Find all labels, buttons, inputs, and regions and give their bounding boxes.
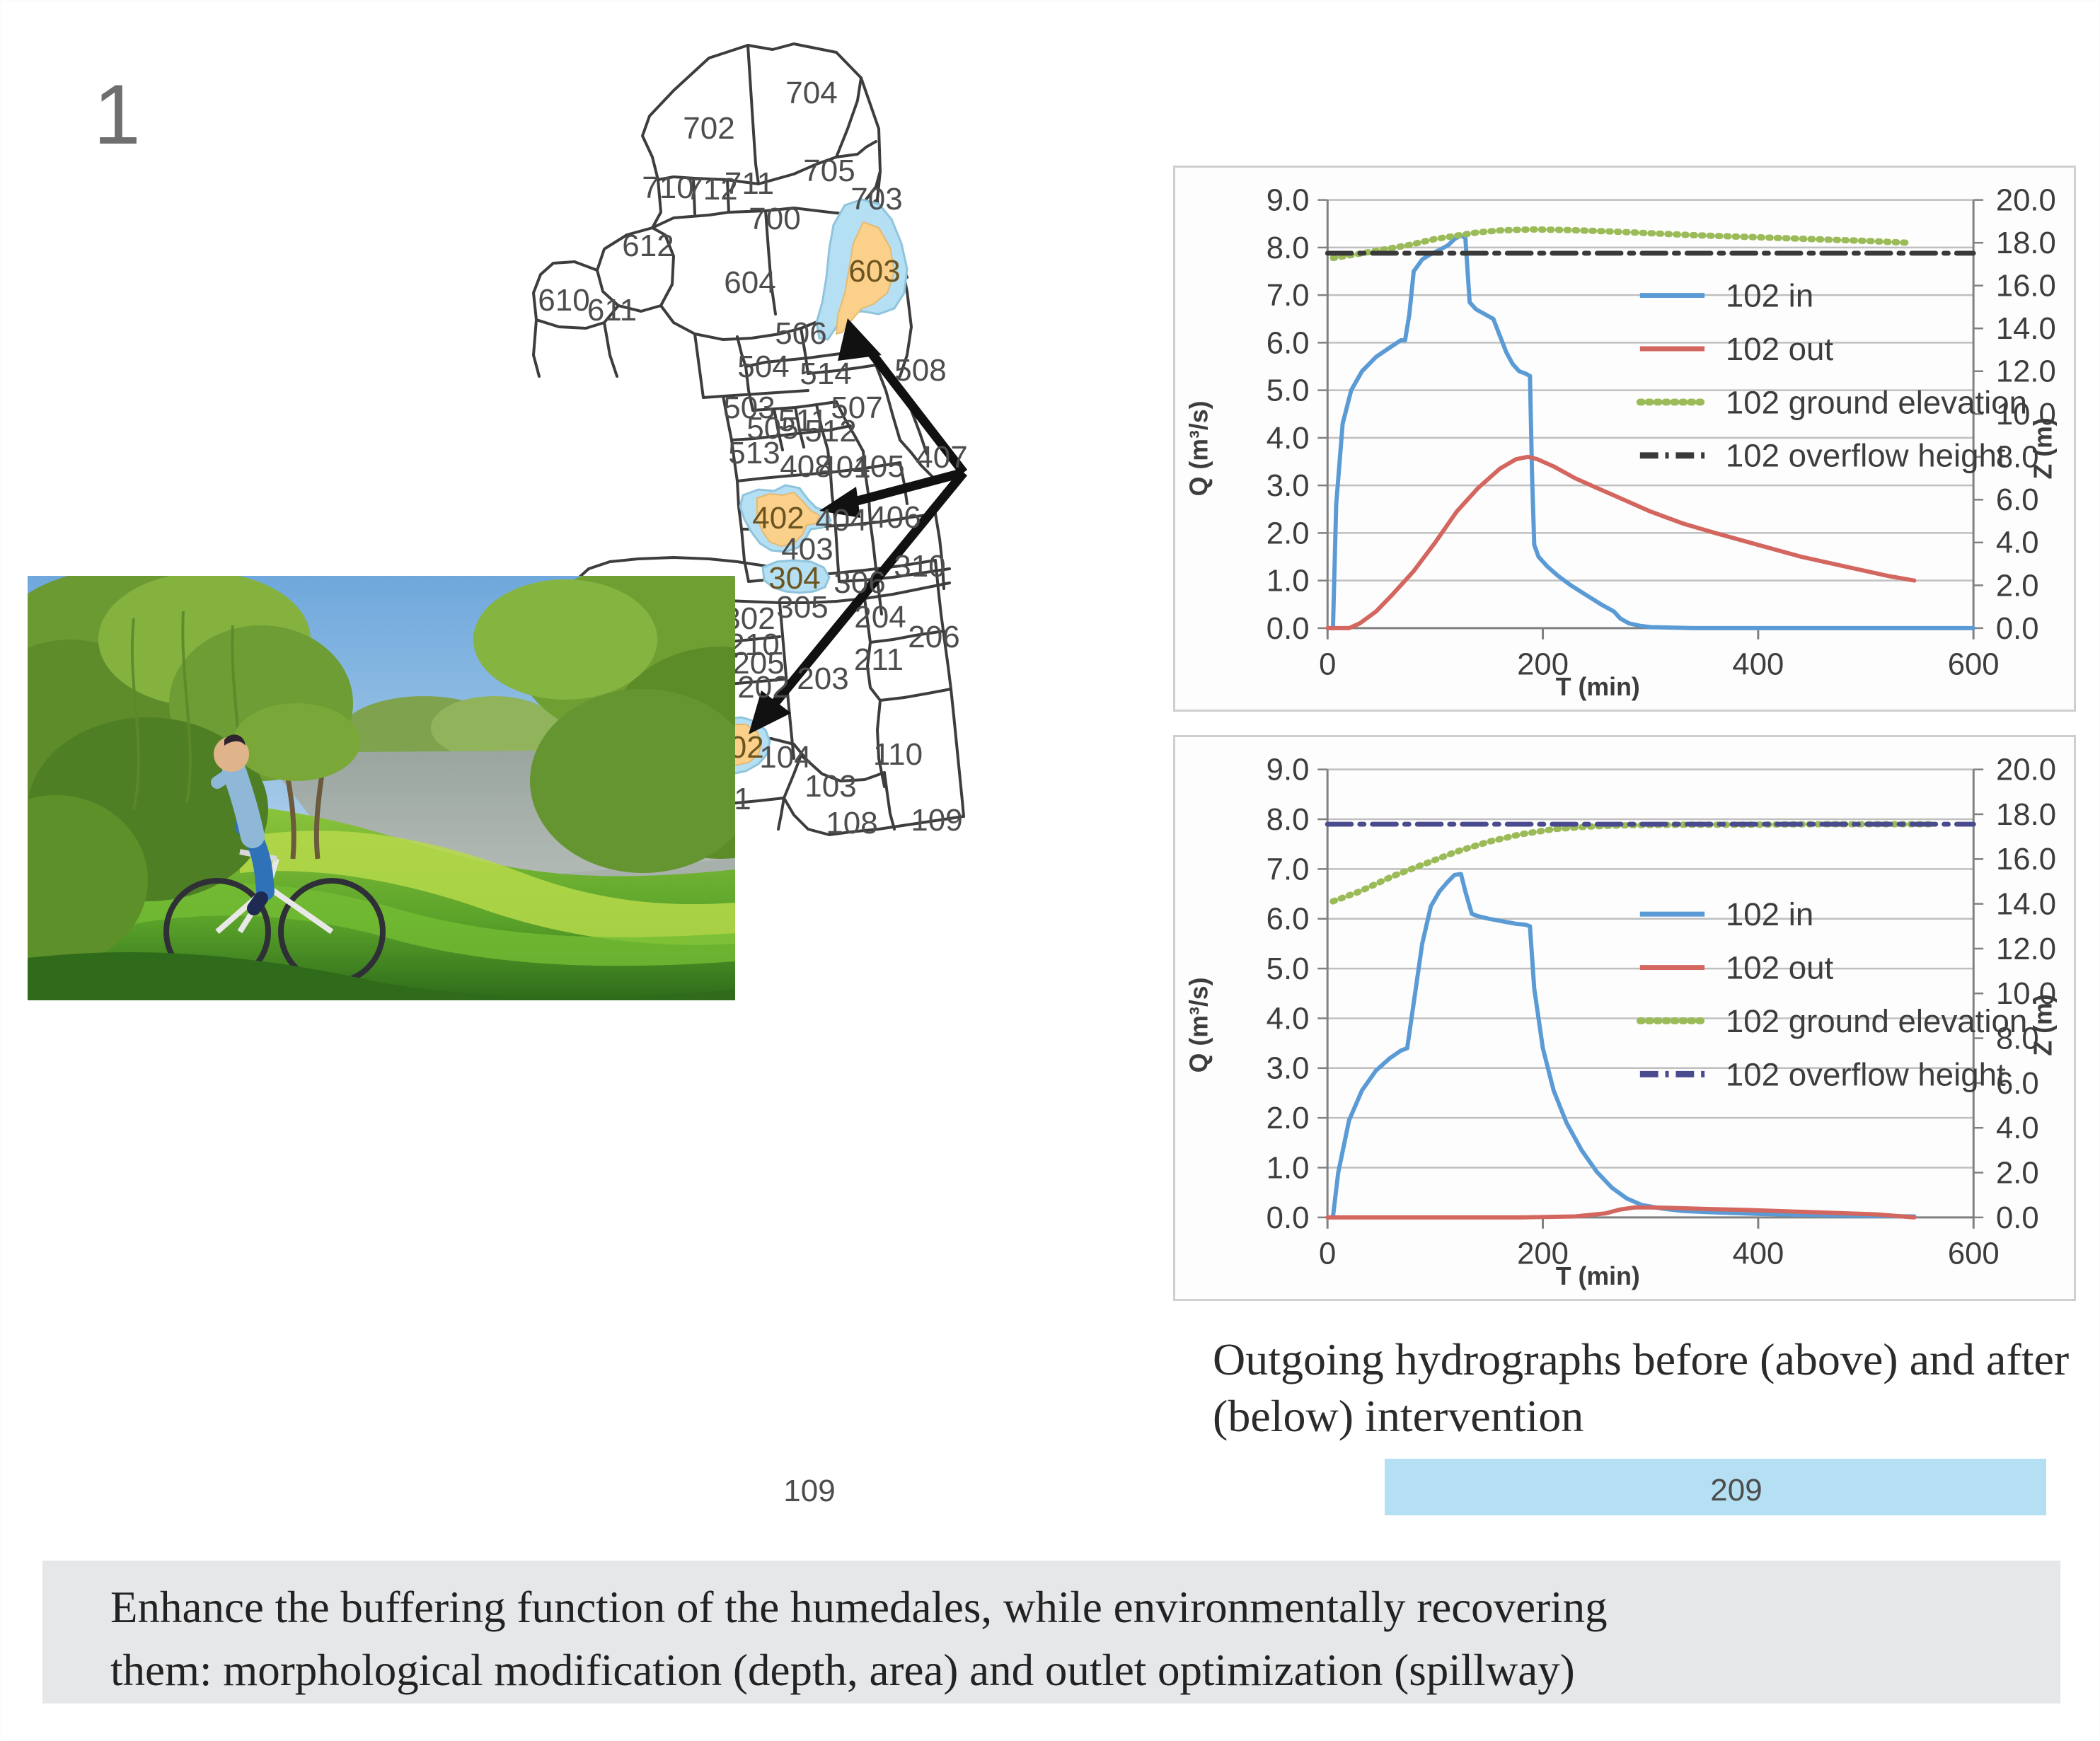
chart-2-y-axis-label: Q (m³/s) xyxy=(1184,977,1213,1072)
map-subcatchment-label-103: 103 xyxy=(804,769,856,804)
map-subcatchment-label-611: 611 xyxy=(587,293,637,328)
c2-y2tick: 0.0 xyxy=(1996,1201,2039,1235)
chart-2-x-axis-label: T (min) xyxy=(1556,1262,1640,1290)
c2-ytick: 6.0 xyxy=(1267,902,1310,937)
map-subcatchment-label-305: 305 xyxy=(776,590,828,625)
chart-before-intervention: 0.01.02.03.04.05.06.07.08.09.00.02.04.06… xyxy=(1173,166,2076,712)
map-subcatchment-label-612: 612 xyxy=(622,229,674,264)
caption-line-1: Enhance the buffering function of the hu… xyxy=(110,1576,2021,1639)
map-subcatchment-label-703: 703 xyxy=(850,182,902,217)
map-subcatchment-label-513: 513 xyxy=(728,436,780,471)
map-subcatchment-label-705: 705 xyxy=(803,154,855,189)
slide-number: 1 xyxy=(93,72,141,157)
map-subcatchment-label-610: 610 xyxy=(538,283,589,318)
map-subcatchment-label-310: 310 xyxy=(894,549,945,584)
map-subcatchment-label-203: 203 xyxy=(797,661,848,697)
chart-1-x-axis-label: T (min) xyxy=(1556,673,1640,701)
map-subcatchment-label-514: 514 xyxy=(800,357,851,392)
c2-y2tick: 4.0 xyxy=(1996,1111,2039,1145)
c2-legend-label: 102 overflow height xyxy=(1726,1056,2006,1092)
c1-ytick: 8.0 xyxy=(1267,231,1310,265)
c1-y2tick: 2.0 xyxy=(1996,568,2039,603)
slide-root: 1 xyxy=(0,0,2100,1741)
c2-y2tick: 12.0 xyxy=(1996,932,2056,966)
c1-y2tick: 20.0 xyxy=(1996,183,2056,218)
map-subcatchment-label-109: 109 xyxy=(911,803,962,838)
c1-xtick: 600 xyxy=(1948,647,2000,681)
c2-xtick: 0 xyxy=(1319,1236,1336,1271)
c1-y2tick: 16.0 xyxy=(1996,269,2056,303)
c1-ytick: 0.0 xyxy=(1267,611,1310,646)
c1-ytick: 2.0 xyxy=(1267,516,1310,550)
c1-xtick: 0 xyxy=(1319,647,1336,681)
c2-ytick: 1.0 xyxy=(1267,1150,1310,1185)
c2-legend-label: 102 in xyxy=(1726,896,1813,932)
c2-ytick: 9.0 xyxy=(1267,753,1310,787)
map-subcatchment-label-108: 108 xyxy=(826,806,877,841)
c2-ytick: 8.0 xyxy=(1267,802,1310,837)
c1-legend-label: 102 in xyxy=(1726,277,1813,313)
c1-ytick: 4.0 xyxy=(1267,421,1310,456)
map-subcatchment-label-604: 604 xyxy=(724,265,775,301)
bottom-caption-bar: Enhance the buffering function of the hu… xyxy=(42,1561,2060,1704)
caption-line-2: them: morphological modification (depth,… xyxy=(110,1639,2021,1702)
c2-y2tick: 20.0 xyxy=(1996,753,2056,787)
c2-legend-label: 102 out xyxy=(1726,949,1834,985)
map-subcatchment-label-603: 603 xyxy=(848,254,900,289)
c2-ytick: 7.0 xyxy=(1267,852,1310,886)
chart-after-intervention: 0.01.02.03.04.05.06.07.08.09.00.02.04.06… xyxy=(1173,735,2076,1301)
c1-xtick: 400 xyxy=(1732,647,1784,681)
bottom-caption-text: Enhance the buffering function of the hu… xyxy=(110,1576,2021,1703)
c1-y2tick: 6.0 xyxy=(1996,482,2039,517)
map-subcatchment-label-512: 512 xyxy=(804,414,856,449)
c2-ytick: 5.0 xyxy=(1267,952,1310,986)
c2-legend-label: 102 ground elevation xyxy=(1726,1003,2027,1039)
c1-ytick: 9.0 xyxy=(1267,183,1310,218)
map-subcatchment-label-504: 504 xyxy=(737,349,789,385)
map-subcatchment-label-306: 306 xyxy=(833,565,885,601)
map-subcatchment-label-402: 402 xyxy=(752,501,804,536)
wetland-park-photo xyxy=(28,576,735,1000)
map-subcatchment-label-508: 508 xyxy=(894,353,946,388)
c1-ytick: 6.0 xyxy=(1267,325,1310,360)
map-subcatchment-label-110: 110 xyxy=(873,737,923,773)
c2-xtick: 400 xyxy=(1732,1236,1784,1271)
c1-y2tick: 4.0 xyxy=(1996,526,2039,560)
map-subcatchment-label-407: 407 xyxy=(916,440,967,475)
c1-series-102-out xyxy=(1327,457,1914,628)
chart-2-y2-axis-label: Z (m) xyxy=(2029,994,2057,1055)
c2-series-102-in xyxy=(1333,874,1915,1217)
map-subcatchment-label-204: 204 xyxy=(854,600,906,635)
map-subcatchment-label-711: 711 xyxy=(725,166,774,202)
map-subcatchment-label-104: 104 xyxy=(759,740,811,775)
chart-1-y2-axis-label: Z (m) xyxy=(2029,417,2057,479)
map-subcatchment-label-406: 406 xyxy=(869,500,921,536)
c2-ytick: 4.0 xyxy=(1267,1001,1310,1036)
map-subcatchment-label-211: 211 xyxy=(854,642,904,678)
c2-y2tick: 18.0 xyxy=(1996,797,2056,832)
c2-y2tick: 2.0 xyxy=(1996,1155,2039,1190)
map-subcatchment-label-702: 702 xyxy=(683,111,734,146)
c1-ytick: 5.0 xyxy=(1267,374,1310,408)
c2-ytick: 2.0 xyxy=(1267,1101,1310,1135)
chart-1-svg: 0.01.02.03.04.05.06.07.08.09.00.02.04.06… xyxy=(1175,168,2074,710)
c2-ytick: 0.0 xyxy=(1267,1201,1310,1235)
c1-legend-label: 102 overflow height xyxy=(1726,438,2006,474)
charts-caption: Outgoing hydrographs before (above) and … xyxy=(1213,1331,2097,1445)
c2-y2tick: 16.0 xyxy=(1996,842,2056,877)
c2-xtick: 600 xyxy=(1948,1236,2000,1271)
c1-y2tick: 0.0 xyxy=(1996,611,2039,646)
map-subcatchment-label-202: 202 xyxy=(737,670,789,705)
map-subcatchment-label-700: 700 xyxy=(749,202,800,237)
c1-ytick: 3.0 xyxy=(1267,468,1310,503)
c1-y2tick: 14.0 xyxy=(1996,311,2056,346)
map-subcatchment-label-506: 506 xyxy=(775,316,826,352)
band-label-109: 109 xyxy=(783,1474,835,1509)
charts-caption-line-1: Outgoing hydrographs before (above) xyxy=(1213,1334,1898,1384)
c1-legend-label: 102 out xyxy=(1726,331,1834,367)
c1-y2tick: 12.0 xyxy=(1996,354,2056,389)
band-label-209: 209 xyxy=(1710,1473,1762,1508)
c1-ytick: 7.0 xyxy=(1267,278,1310,313)
c2-series-102-ground-elevation xyxy=(1333,824,1931,901)
chart-2-svg: 0.01.02.03.04.05.06.07.08.09.00.02.04.06… xyxy=(1175,737,2074,1299)
photo-illustration xyxy=(28,576,735,1000)
map-subcatchment-label-206: 206 xyxy=(908,620,959,655)
c1-y2tick: 18.0 xyxy=(1996,226,2056,260)
c1-ytick: 1.0 xyxy=(1267,564,1310,598)
c2-ytick: 3.0 xyxy=(1267,1051,1310,1086)
c1-legend-label: 102 ground elevation xyxy=(1726,384,2027,420)
map-subcatchment-label-405: 405 xyxy=(853,449,904,485)
chart-1-y-axis-label: Q (m³/s) xyxy=(1185,400,1213,496)
c2-y2tick: 14.0 xyxy=(1996,887,2056,922)
map-subcatchment-label-704: 704 xyxy=(785,76,837,111)
